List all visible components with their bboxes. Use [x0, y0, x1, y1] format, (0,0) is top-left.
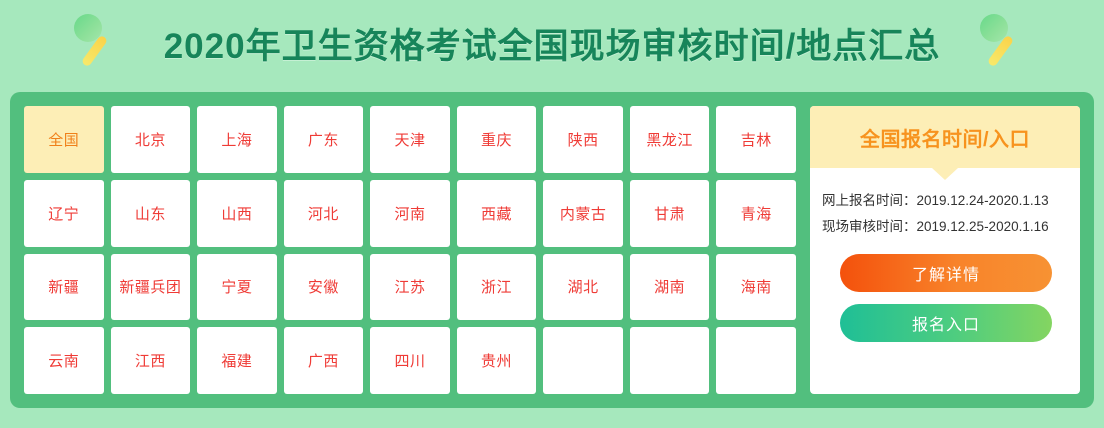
panel-body: 网上报名时间：2019.12.24-2020.1.13 现场审核时间：2019.… [810, 168, 1080, 394]
region-cell-hebei[interactable]: 河北 [284, 180, 364, 247]
region-cell-guizhou[interactable]: 贵州 [457, 327, 537, 394]
banner-title-band: 2020年卫生资格考试全国现场审核时间/地点汇总 [0, 0, 1104, 92]
region-cell-yunnan[interactable]: 云南 [24, 327, 104, 394]
registration-info-panel: 全国报名时间/入口 网上报名时间：2019.12.24-2020.1.13 现场… [810, 106, 1080, 394]
region-cell-fujian[interactable]: 福建 [197, 327, 277, 394]
region-cell-neimenggu[interactable]: 内蒙古 [543, 180, 623, 247]
left-decoration [62, 0, 136, 92]
circle-dot-icon [980, 14, 1008, 42]
region-cell-xizang[interactable]: 西藏 [457, 180, 537, 247]
panel-header: 全国报名时间/入口 [810, 106, 1080, 168]
region-cell-chongqing[interactable]: 重庆 [457, 106, 537, 173]
region-cell-shandong[interactable]: 山东 [111, 180, 191, 247]
region-cell-shanxi[interactable]: 山西 [197, 180, 277, 247]
region-cell-shanghai[interactable]: 上海 [197, 106, 277, 173]
region-grid: 全国 北京 上海 广东 天津 重庆 陕西 黑龙江 吉林 辽宁 山东 山西 河北 … [24, 106, 796, 394]
page-title: 2020年卫生资格考试全国现场审核时间/地点汇总 [164, 29, 941, 64]
region-cell-hainan[interactable]: 海南 [716, 254, 796, 321]
region-cell-heilongjiang[interactable]: 黑龙江 [630, 106, 710, 173]
region-cell-henan[interactable]: 河南 [370, 180, 450, 247]
region-cell-qinghai[interactable]: 青海 [716, 180, 796, 247]
region-cell-gansu[interactable]: 甘肃 [630, 180, 710, 247]
onsite-review-time: 现场审核时间：2019.12.25-2020.1.16 [822, 214, 1070, 240]
cta-button-group: 了解详情 报名入口 [822, 254, 1070, 342]
online-registration-time: 网上报名时间：2019.12.24-2020.1.13 [822, 188, 1070, 214]
region-cell-empty-2 [630, 327, 710, 394]
region-cell-guangdong[interactable]: 广东 [284, 106, 364, 173]
content-card: 全国 北京 上海 广东 天津 重庆 陕西 黑龙江 吉林 辽宁 山东 山西 河北 … [10, 92, 1094, 408]
learn-more-button[interactable]: 了解详情 [840, 254, 1052, 292]
circle-dot-icon [74, 14, 102, 42]
region-cell-hubei[interactable]: 湖北 [543, 254, 623, 321]
registration-entry-button[interactable]: 报名入口 [840, 304, 1052, 342]
region-cell-empty-3 [716, 327, 796, 394]
region-cell-xinjiang[interactable]: 新疆 [24, 254, 104, 321]
region-cell-tianjin[interactable]: 天津 [370, 106, 450, 173]
region-cell-quanguo[interactable]: 全国 [24, 106, 104, 173]
slash-icon [987, 35, 1014, 68]
right-decoration [968, 0, 1042, 92]
region-cell-sichuan[interactable]: 四川 [370, 327, 450, 394]
region-cell-shaanxi[interactable]: 陕西 [543, 106, 623, 173]
region-cell-guangxi[interactable]: 广西 [284, 327, 364, 394]
region-cell-xinjiangbingtuan[interactable]: 新疆兵团 [111, 254, 191, 321]
slash-icon [81, 35, 108, 68]
region-cell-jiangsu[interactable]: 江苏 [370, 254, 450, 321]
region-cell-empty-1 [543, 327, 623, 394]
region-cell-anhui[interactable]: 安徽 [284, 254, 364, 321]
region-cell-hunan[interactable]: 湖南 [630, 254, 710, 321]
region-cell-liaoning[interactable]: 辽宁 [24, 180, 104, 247]
region-cell-jiangxi[interactable]: 江西 [111, 327, 191, 394]
region-cell-zhejiang[interactable]: 浙江 [457, 254, 537, 321]
region-cell-jilin[interactable]: 吉林 [716, 106, 796, 173]
region-cell-beijing[interactable]: 北京 [111, 106, 191, 173]
panel-heading-text: 全国报名时间/入口 [860, 123, 1030, 152]
promo-banner: 2020年卫生资格考试全国现场审核时间/地点汇总 全国 北京 上海 广东 天津 … [0, 0, 1104, 428]
region-cell-ningxia[interactable]: 宁夏 [197, 254, 277, 321]
